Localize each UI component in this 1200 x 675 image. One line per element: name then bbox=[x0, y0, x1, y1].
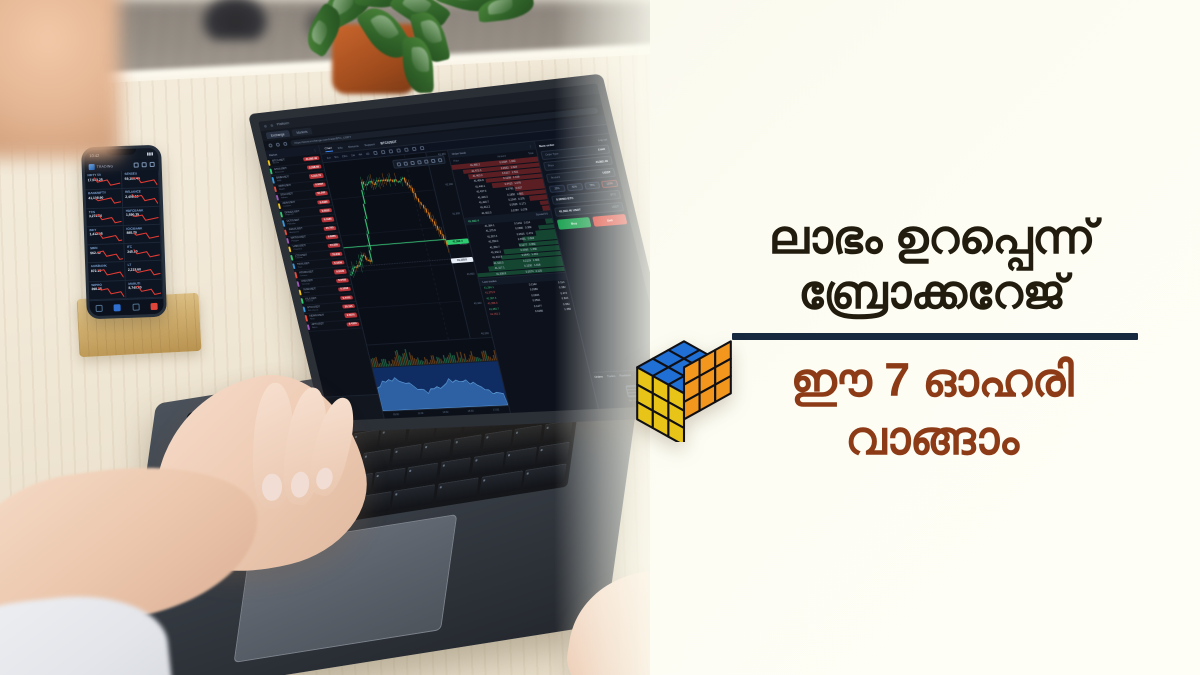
order-bottom-tab[interactable]: Orders bbox=[594, 375, 603, 378]
watch-symbol: AVAX/USDTAvalanche bbox=[289, 228, 304, 234]
amount-label: Amount bbox=[551, 176, 561, 180]
time-tick: 09:00 bbox=[393, 413, 399, 416]
row-color-bar bbox=[294, 272, 297, 278]
laptop-screen[interactable]: Platform ExchangeMarkets https://www.exc… bbox=[258, 83, 672, 421]
trade-amount: 0.4066 bbox=[517, 310, 543, 315]
phone-sparkline bbox=[95, 192, 121, 206]
keyboard-key[interactable] bbox=[421, 439, 452, 463]
order-bottom-tab[interactable]: Trades bbox=[607, 374, 616, 377]
watch-price: 5.4470 bbox=[340, 295, 353, 300]
photo-scene: 10:42 ▮▮▮ TRADING NIFTY 5017,543.25SENSE… bbox=[0, 0, 672, 675]
watch-symbol: APT/USDTAptos bbox=[312, 323, 326, 329]
grid-icon[interactable] bbox=[134, 162, 139, 167]
row-color-bar bbox=[292, 264, 295, 270]
watch-symbol: DOGE/USDTDogecoin bbox=[285, 211, 301, 217]
trendline-icon[interactable] bbox=[396, 148, 401, 152]
price-tick: 40,000 bbox=[472, 332, 490, 336]
laptop-lid: Platform ExchangeMarkets https://www.exc… bbox=[248, 74, 672, 433]
amount-percent-chip[interactable]: 50% bbox=[566, 183, 583, 192]
work-area: 42,40042,00041,60041,20040,80040,40040,0… bbox=[323, 134, 672, 419]
book-price: 41,403.5 bbox=[466, 211, 492, 216]
phone-quote-cell[interactable]: WIPRO398.25 bbox=[89, 281, 127, 301]
amount-percent-chip[interactable]: 75% bbox=[583, 181, 600, 190]
trading-app: Market ⋮ BTC/USDTBitcoin41,392.40ETH/USD… bbox=[265, 115, 672, 421]
bid-rows[interactable]: 41,384.10.11420.11441,375.80.26800.38241… bbox=[466, 218, 565, 278]
price-tick: 41,600 bbox=[443, 212, 461, 216]
watch-price: 91.205 bbox=[315, 191, 328, 196]
trash-icon[interactable] bbox=[419, 146, 424, 150]
watch-price: 0.0812 bbox=[319, 208, 332, 213]
total-value: 41,392.40 USDT bbox=[559, 208, 582, 214]
keyboard-key[interactable] bbox=[438, 457, 471, 481]
fib-icon[interactable] bbox=[404, 148, 409, 152]
keyboard-key[interactable] bbox=[537, 442, 570, 466]
trash-icon[interactable] bbox=[437, 158, 442, 162]
watch-price: 0.8265 bbox=[325, 234, 338, 239]
total-unit: USDT bbox=[611, 205, 619, 209]
watch-subtitle: Cardano bbox=[283, 205, 296, 208]
watch-symbol: XLM/USDTStellar bbox=[303, 289, 317, 295]
trendline-icon[interactable] bbox=[416, 160, 421, 164]
watchlist-tab-icon[interactable] bbox=[95, 305, 102, 312]
watch-price: 0.6184 bbox=[313, 182, 326, 187]
browser-tab[interactable]: Markets bbox=[291, 127, 313, 136]
headline-line-1: ലാഭം ഉറപ്പെന്ന് bbox=[686, 211, 1178, 264]
watch-price: 2,208.60 bbox=[307, 165, 322, 170]
watch-symbol: MATIC/USDTPolygon bbox=[291, 237, 307, 243]
watch-symbol: UNI/USDTUniswap bbox=[301, 280, 314, 286]
order-type-label: Order Type bbox=[545, 152, 559, 156]
market-watch-filter-icon[interactable]: ⋮ bbox=[313, 148, 317, 152]
watch-price: 6.0405 bbox=[336, 278, 349, 283]
keyboard-key[interactable] bbox=[452, 434, 483, 458]
headline-line-4: വാങ്ങാം bbox=[686, 412, 1178, 465]
headline-line-3: ഈ 7 ഓഹരി bbox=[686, 354, 1178, 407]
keyboard-key[interactable] bbox=[512, 425, 543, 449]
row-color-bar bbox=[299, 289, 302, 295]
watch-symbol: FIL/USDTFilecoin bbox=[305, 298, 317, 304]
price-tick: 42,000 bbox=[436, 183, 454, 188]
watch-subtitle: Chainlink bbox=[294, 248, 308, 251]
watch-price: 34.705 bbox=[323, 226, 336, 231]
watch-symbol: ADA/USDTCardano bbox=[283, 202, 297, 208]
last-trade-rows[interactable]: 41,384.10.11420.11441,375.80.26800.38241… bbox=[480, 280, 574, 318]
person-head bbox=[0, 0, 120, 158]
row-color-bar bbox=[280, 212, 283, 218]
trade-price: 41,342.3 bbox=[490, 311, 516, 316]
watch-subtitle: Polkadot bbox=[287, 222, 300, 225]
row-color-bar bbox=[286, 238, 289, 244]
watch-symbol: ATOM/USDTCosmos bbox=[299, 271, 315, 277]
watch-price: 0.4420 bbox=[317, 199, 330, 204]
phone-app-name: TRADING bbox=[97, 164, 114, 169]
watch-price: 0.1056 bbox=[332, 261, 345, 266]
row-color-bar bbox=[290, 255, 293, 261]
phone-quote-cell[interactable]: BANKNIFTY41,108.90 bbox=[86, 189, 124, 209]
row-color-bar bbox=[272, 177, 275, 183]
keyboard-key[interactable] bbox=[361, 449, 392, 473]
keyboard-key[interactable] bbox=[471, 452, 504, 476]
phone-sparkline bbox=[95, 211, 121, 225]
thumbnail-canvas: 10:42 ▮▮▮ TRADING NIFTY 5017,543.25SENSE… bbox=[0, 0, 1200, 675]
row-color-bar bbox=[307, 324, 310, 330]
phone-sparkline bbox=[97, 265, 123, 279]
workspace-tab[interactable]: Info bbox=[337, 145, 343, 149]
row-color-bar bbox=[270, 169, 273, 175]
time-tick: 11:00 bbox=[418, 412, 424, 415]
row-color-bar bbox=[296, 281, 299, 287]
spread-price: 41,392.4 bbox=[468, 218, 480, 223]
workspace-tab[interactable]: Support bbox=[364, 142, 375, 147]
watch-symbol: XRP/USDTRipple bbox=[278, 185, 292, 191]
pencil-icon[interactable] bbox=[396, 162, 401, 166]
fib-icon[interactable] bbox=[423, 159, 428, 163]
watch-subtitle: Tron bbox=[298, 265, 311, 268]
book-total: 0.078 bbox=[520, 206, 546, 211]
order-type-value: Limit bbox=[597, 147, 605, 152]
watch-price: 70.640 bbox=[329, 252, 342, 257]
watch-subtitle: BNB bbox=[277, 179, 290, 182]
watch-symbol: LTC/USDTLitecoin bbox=[295, 254, 308, 260]
rubiks-cube bbox=[632, 336, 736, 442]
watch-symbol: TRX/USDTTron bbox=[297, 263, 311, 269]
reload-icon[interactable] bbox=[283, 142, 288, 146]
watch-subtitle: Stellar bbox=[304, 291, 317, 294]
shapes-icon[interactable] bbox=[430, 158, 435, 162]
row-color-bar bbox=[267, 160, 270, 166]
workspace-tab[interactable]: Returns bbox=[348, 143, 359, 148]
amount-unit: USDT bbox=[602, 170, 611, 175]
watch-price: 14.338 bbox=[327, 243, 340, 248]
timeframe-button[interactable]: 4H bbox=[358, 152, 362, 156]
watch-price: 20.115 bbox=[342, 304, 355, 309]
orders-tab-icon[interactable] bbox=[114, 304, 121, 311]
watch-price: 2.0870 bbox=[344, 313, 357, 318]
amount-percent-chip[interactable]: 25% bbox=[549, 184, 566, 193]
watch-subtitle: Litecoin bbox=[296, 257, 309, 260]
size-unit: BTC bbox=[610, 193, 616, 196]
phone-quote-cell[interactable]: AXISBANK872.15 bbox=[88, 262, 126, 282]
size-value: 0.00500 BTC bbox=[556, 196, 574, 202]
window-dot-icon[interactable] bbox=[270, 124, 273, 127]
market-depth-chart bbox=[372, 360, 508, 411]
watch-symbol: LINK/USDTChainlink bbox=[293, 245, 307, 251]
forward-icon[interactable] bbox=[276, 143, 281, 147]
shapes-icon[interactable] bbox=[412, 147, 417, 151]
watch-subtitle: Aptos bbox=[312, 326, 325, 329]
keyboard-key[interactable] bbox=[542, 420, 573, 444]
phone-sparkline bbox=[96, 229, 122, 243]
watch-subtitle: Dogecoin bbox=[285, 213, 300, 217]
order-book-title: Order book bbox=[451, 151, 466, 156]
watch-subtitle: Uniswap bbox=[302, 283, 314, 286]
magnet-icon[interactable] bbox=[403, 161, 408, 165]
price-label: Price bbox=[548, 164, 555, 168]
watch-price: 41,392.40 bbox=[303, 156, 320, 162]
trading-pair-label: BTC/USDT bbox=[380, 139, 397, 145]
keyboard-key[interactable] bbox=[482, 430, 513, 454]
headline-panel: ലാഭം ഉറപ്പെന്ന് ബ്രോക്കറേജ് ഈ 7 ഓഹരി വാങ… bbox=[650, 0, 1200, 675]
time-tick: 15:00 bbox=[467, 410, 474, 413]
watch-symbol: SOL/USDTSolana bbox=[280, 194, 294, 200]
logo-mark-icon bbox=[89, 163, 95, 169]
sell-button[interactable]: Sell bbox=[592, 214, 627, 227]
magnet-icon[interactable] bbox=[381, 150, 386, 154]
row-color-bar bbox=[276, 195, 279, 201]
phone-sparkline bbox=[94, 174, 120, 188]
headline-divider-rule bbox=[732, 333, 1138, 340]
search-icon[interactable] bbox=[142, 162, 147, 167]
watch-subtitle: Avalanche bbox=[289, 231, 303, 234]
timeframe-button[interactable]: 1D bbox=[365, 152, 369, 156]
watch-symbol: ETH/USDTEthereum bbox=[274, 168, 288, 174]
phone-quote-cell[interactable]: TCS3,272.60 bbox=[86, 208, 124, 228]
keyboard-key[interactable] bbox=[479, 471, 523, 497]
phone-sparkline bbox=[97, 247, 123, 261]
row-color-bar bbox=[278, 203, 281, 209]
timeframe-button[interactable]: 15m bbox=[342, 154, 348, 158]
order-form-title: New order bbox=[539, 143, 555, 149]
watch-subtitle: Cosmos bbox=[300, 274, 315, 277]
time-tick: 13:00 bbox=[442, 411, 449, 414]
back-icon[interactable] bbox=[268, 143, 273, 147]
spread-label: Spread 8.6 bbox=[536, 213, 549, 217]
row-color-bar bbox=[284, 229, 287, 235]
timeframe-button[interactable]: 1H bbox=[351, 153, 355, 157]
watch-price: 9.8120 bbox=[334, 269, 347, 274]
chair-leg-blur bbox=[200, 0, 270, 40]
keyboard-key[interactable] bbox=[435, 478, 479, 504]
keyboard-key[interactable] bbox=[392, 485, 436, 511]
amount-percent-chip[interactable]: 100% bbox=[601, 179, 619, 188]
buy-button[interactable]: Buy bbox=[557, 217, 592, 230]
trade-total: 1.358 bbox=[545, 308, 571, 313]
row-color-bar bbox=[301, 298, 304, 304]
market-watch-title: Market bbox=[269, 152, 278, 157]
row-color-bar bbox=[282, 220, 285, 226]
watch-subtitle: Ethereum bbox=[275, 170, 288, 173]
watch-symbol: DOT/USDTPolkadot bbox=[287, 220, 301, 226]
watch-price: 6.1180 bbox=[321, 217, 334, 222]
keyboard-key[interactable] bbox=[406, 463, 439, 487]
watch-subtitle: Near bbox=[310, 317, 325, 320]
order-book-settings-icon[interactable]: ⋮ bbox=[528, 144, 532, 148]
watch-price: 1,310.70 bbox=[309, 173, 324, 178]
browser-window-title: Platform bbox=[276, 121, 289, 126]
phone-quote-cell[interactable]: NIFTY 5017,543.25 bbox=[85, 171, 123, 191]
watch-subtitle: Eth Classic bbox=[308, 309, 321, 312]
watch-price: 8.4350 bbox=[346, 322, 359, 327]
keyboard-key[interactable] bbox=[523, 464, 567, 490]
price-value: 41392.40 bbox=[595, 159, 608, 164]
order-action-buttons[interactable]: Buy Sell bbox=[557, 214, 628, 230]
timeframe-button[interactable]: 5m bbox=[334, 155, 339, 159]
watch-symbol: ETC/USDTEth Classic bbox=[307, 306, 321, 312]
book-amount: 0.0787 bbox=[493, 209, 519, 214]
watch-symbol: BNB/USDTBNB bbox=[276, 176, 290, 182]
row-color-bar bbox=[288, 246, 291, 252]
phone-sparkline bbox=[98, 284, 124, 298]
pencil-icon[interactable] bbox=[373, 151, 378, 155]
watch-subtitle: Polygon bbox=[291, 239, 307, 242]
time-tick: 17:00 bbox=[493, 409, 500, 412]
depth-svg bbox=[373, 361, 508, 411]
ask-rows[interactable]: 41,480.20.21841.84241,471.60.09321.62441… bbox=[451, 157, 550, 218]
keyboard-key[interactable] bbox=[504, 447, 537, 471]
window-dot-icon[interactable] bbox=[264, 124, 267, 127]
row-color-bar bbox=[274, 186, 277, 192]
watch-subtitle: Bitcoin bbox=[273, 162, 286, 165]
watch-subtitle: Filecoin bbox=[306, 300, 318, 303]
keyboard-key[interactable] bbox=[373, 468, 406, 492]
phone-quote-cell[interactable]: SBIN562.40 bbox=[87, 244, 125, 264]
price-tick: 40,400 bbox=[464, 302, 482, 306]
price-tick: 40,800 bbox=[457, 272, 475, 276]
alerts-tab-icon[interactable] bbox=[132, 304, 139, 311]
headline-line-2: ബ്രോക്കറേജ് bbox=[686, 266, 1178, 319]
phone-app-logo: TRADING bbox=[89, 163, 114, 170]
watch-subtitle: Solana bbox=[281, 196, 294, 199]
watch-price: 0.1203 bbox=[338, 287, 351, 292]
ruler-icon[interactable] bbox=[410, 160, 415, 164]
row-color-bar bbox=[303, 307, 306, 313]
row-color-bar bbox=[305, 315, 308, 321]
workspace-tab[interactable]: Chart bbox=[324, 145, 333, 151]
browser-tab[interactable]: Exchange bbox=[266, 130, 290, 139]
keyboard-key[interactable] bbox=[391, 444, 422, 468]
watch-subtitle: Ripple bbox=[279, 188, 292, 191]
watch-symbol: NEAR/USDTNear bbox=[309, 315, 325, 321]
order-bottom-tab[interactable]: Positions bbox=[619, 374, 631, 378]
watch-symbol: BTC/USDTBitcoin bbox=[272, 159, 286, 165]
phone-quote-cell[interactable]: INFY1,412.05 bbox=[87, 226, 125, 246]
timeframe-button[interactable]: 1m bbox=[326, 156, 331, 160]
logout-link[interactable]: Log out bbox=[598, 138, 608, 142]
ruler-icon[interactable] bbox=[388, 149, 393, 153]
